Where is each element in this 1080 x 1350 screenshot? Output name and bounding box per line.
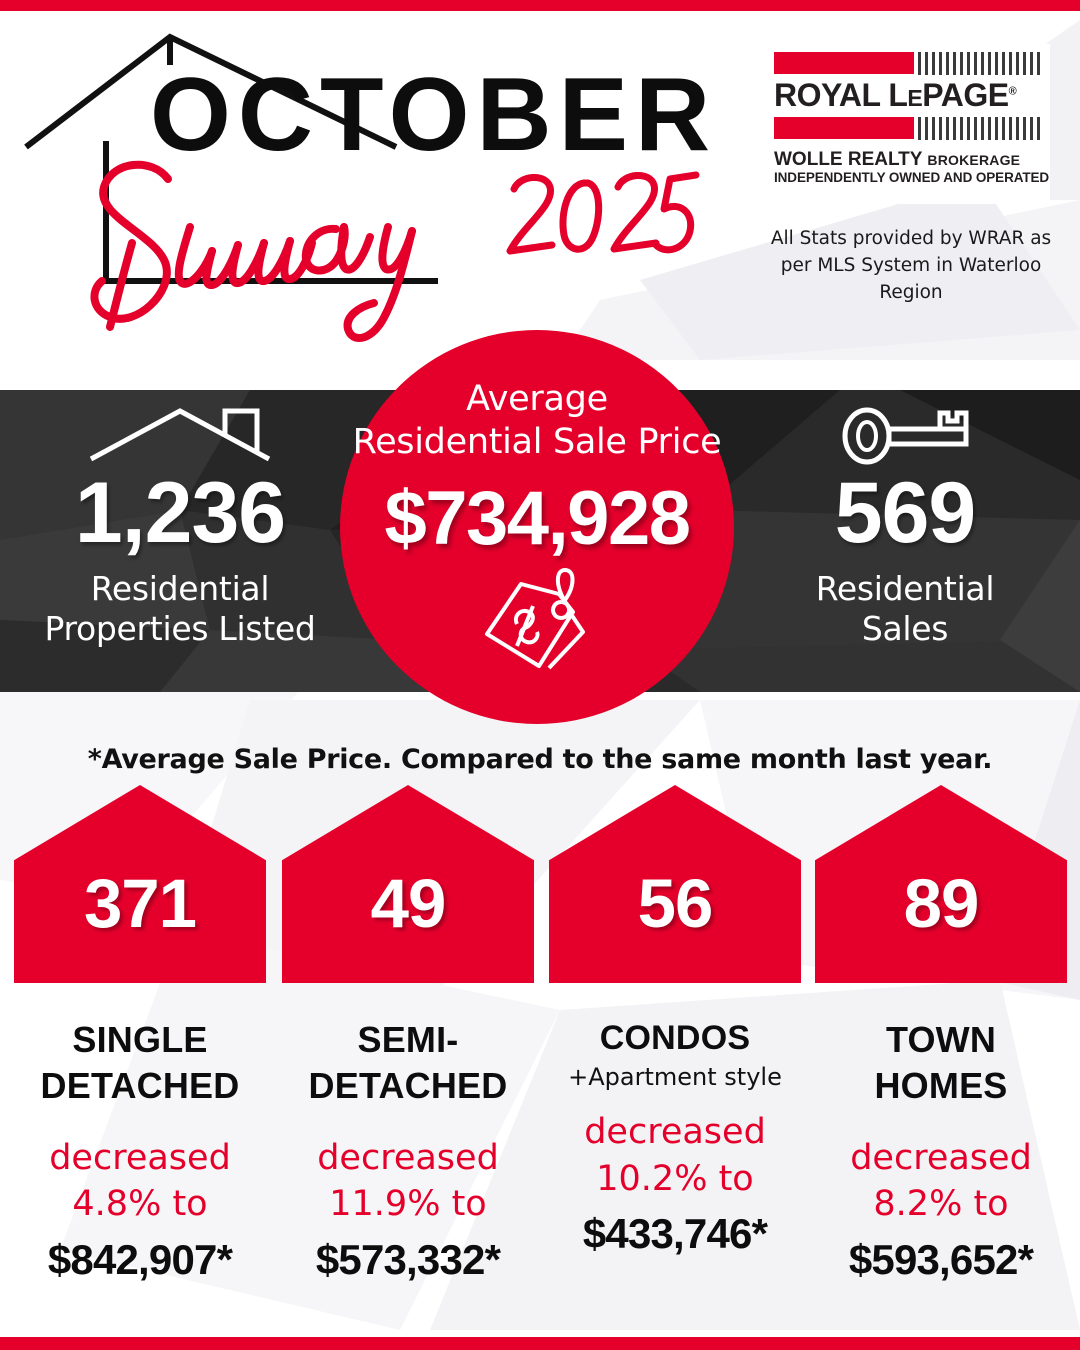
card-count: 49	[282, 869, 534, 938]
card-price: $433,746*	[549, 1210, 801, 1258]
logo-bar-bottom	[774, 115, 1042, 141]
card-title: SINGLEDETACHED	[14, 1017, 266, 1109]
stat-residential-sales: 569 ResidentialSales	[760, 405, 1050, 649]
roof-chimney-icon	[30, 405, 330, 467]
logo-realty-name: WOLLE REALTY BROKERAGE	[774, 150, 1042, 170]
card-price: $593,652*	[815, 1236, 1067, 1284]
royal-lepage-logo: ROYAL LEPAGE® WOLLE REALTY BROKERAGE IND…	[766, 44, 1050, 204]
logo-wordmark: ROYAL LEPAGE®	[774, 79, 1042, 111]
card-count: 56	[549, 869, 801, 938]
stats-source-note: All Stats provided by WRAR as per MLS Sy…	[766, 226, 1056, 306]
average-sale-price-circle: AverageResidential Sale Price $734,928	[340, 330, 734, 724]
stat-label-listed: ResidentialProperties Listed	[30, 569, 330, 650]
card-change: decreased11.9% to	[282, 1135, 534, 1227]
card-semi-detached: 49 SEMI-DETACHED decreased11.9% to $573,…	[282, 785, 534, 1284]
card-price: $842,907*	[14, 1236, 266, 1284]
card-change: decreased10.2% to	[549, 1109, 801, 1201]
circle-title: AverageResidential Sale Price	[340, 330, 734, 463]
key-icon	[760, 405, 1050, 467]
bottom-accent-bar	[0, 1337, 1080, 1350]
card-count: 89	[815, 869, 1067, 938]
house-shape: 49	[282, 785, 534, 983]
title-script-year	[500, 161, 700, 291]
top-accent-bar	[0, 0, 1080, 11]
stat-label-sales: ResidentialSales	[760, 569, 1050, 650]
stat-value-sales: 569	[760, 473, 1050, 555]
card-town-homes: 89 TOWNHOMES decreased8.2% to $593,652*	[815, 785, 1067, 1284]
card-count: 371	[14, 869, 266, 938]
stat-properties-listed: 1,236 ResidentialProperties Listed	[30, 405, 330, 649]
card-subtitle: +Apartment style	[549, 1063, 801, 1092]
card-change: decreased8.2% to	[815, 1135, 1067, 1227]
price-tag-icon	[340, 568, 734, 672]
property-type-cards: 371 SINGLEDETACHED decreased4.8% to $842…	[0, 785, 1080, 1325]
house-shape: 89	[815, 785, 1067, 983]
card-price: $573,332*	[282, 1236, 534, 1284]
disclaimer-note: *Average Sale Price. Compared to the sam…	[0, 744, 1080, 775]
logo-independently-owned: INDEPENDENTLY OWNED AND OPERATED	[774, 170, 1042, 185]
header: OCTOBER	[0, 11, 1080, 341]
infographic-page: OCTOBER	[0, 0, 1080, 1350]
card-single-detached: 371 SINGLEDETACHED decreased4.8% to $842…	[14, 785, 266, 1284]
title-script-summary	[40, 131, 510, 351]
card-title: SEMI-DETACHED	[282, 1017, 534, 1109]
house-shape: 56	[549, 785, 801, 983]
house-shape: 371	[14, 785, 266, 983]
logo-bar-top	[774, 50, 1042, 76]
stat-value-listed: 1,236	[30, 473, 330, 555]
card-condos: 56 CONDOS +Apartment style decreased10.2…	[549, 785, 801, 1258]
card-title: TOWNHOMES	[815, 1017, 1067, 1109]
card-title: CONDOS	[549, 1017, 801, 1061]
card-change: decreased4.8% to	[14, 1135, 266, 1227]
circle-value-average-price: $734,928	[340, 475, 734, 562]
